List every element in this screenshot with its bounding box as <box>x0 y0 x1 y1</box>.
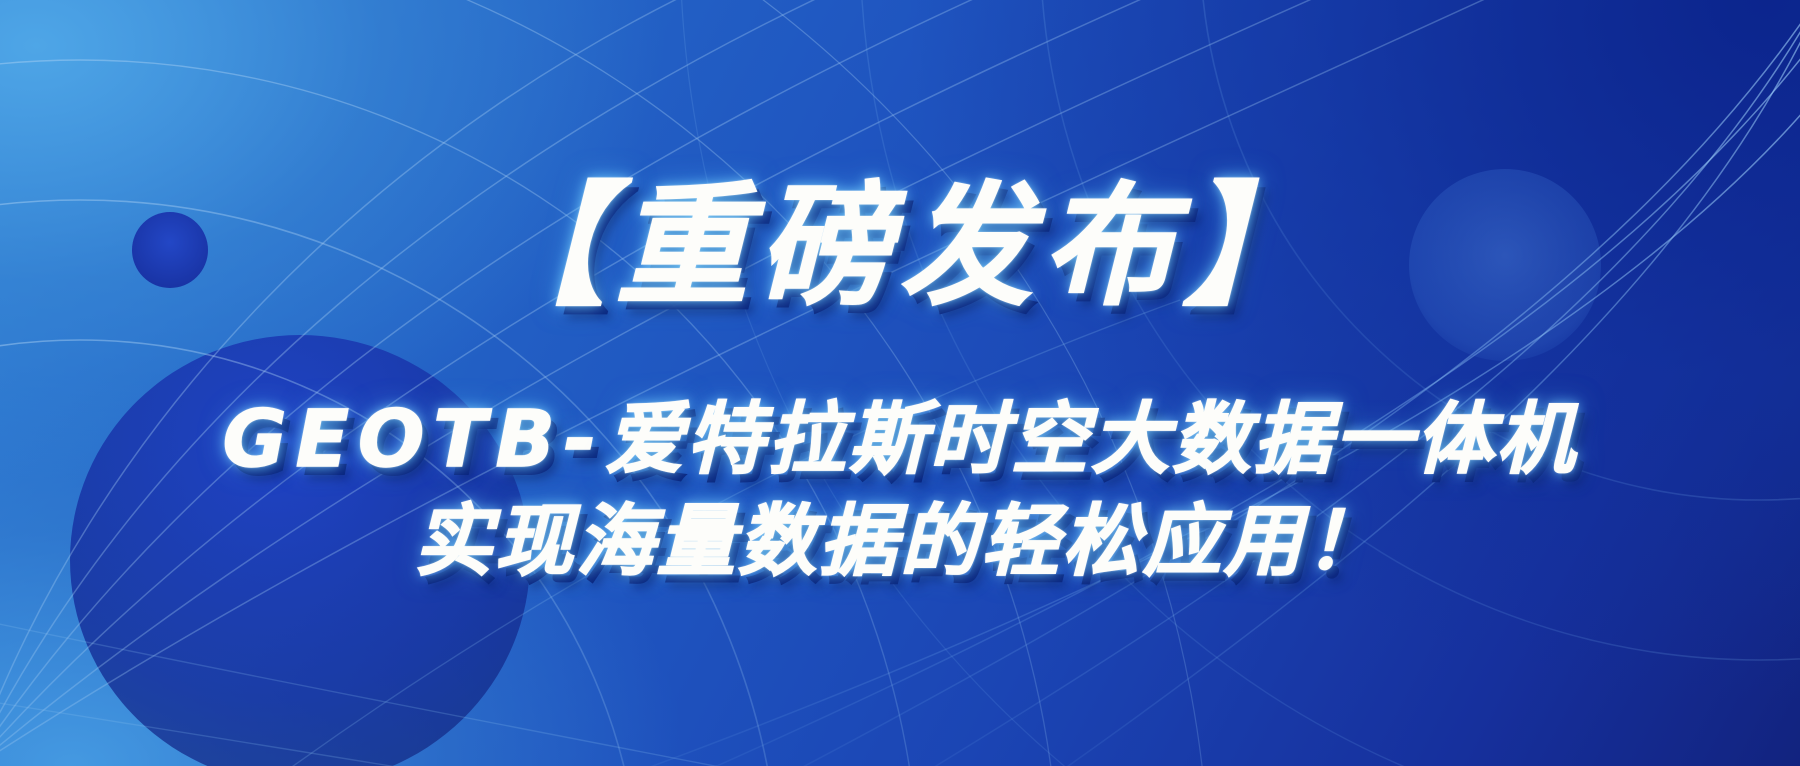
product-name-line: GEOTB-爱特拉斯时空大数据一体机 <box>223 394 1578 486</box>
headline-bracketed: 【重磅发布】 <box>474 178 1326 317</box>
headline-stack: 【重磅发布】 GEOTB-爱特拉斯时空大数据一体机 实现海量数据的轻松应用！ <box>0 0 1800 766</box>
tagline: 实现海量数据的轻松应用！ <box>414 496 1386 588</box>
promo-banner: 【重磅发布】 GEOTB-爱特拉斯时空大数据一体机 实现海量数据的轻松应用！ <box>0 0 1800 766</box>
product-name-cjk: 爱特拉斯时空大数据一体机 <box>605 395 1577 485</box>
product-name-latin: GEOTB- <box>223 395 606 485</box>
